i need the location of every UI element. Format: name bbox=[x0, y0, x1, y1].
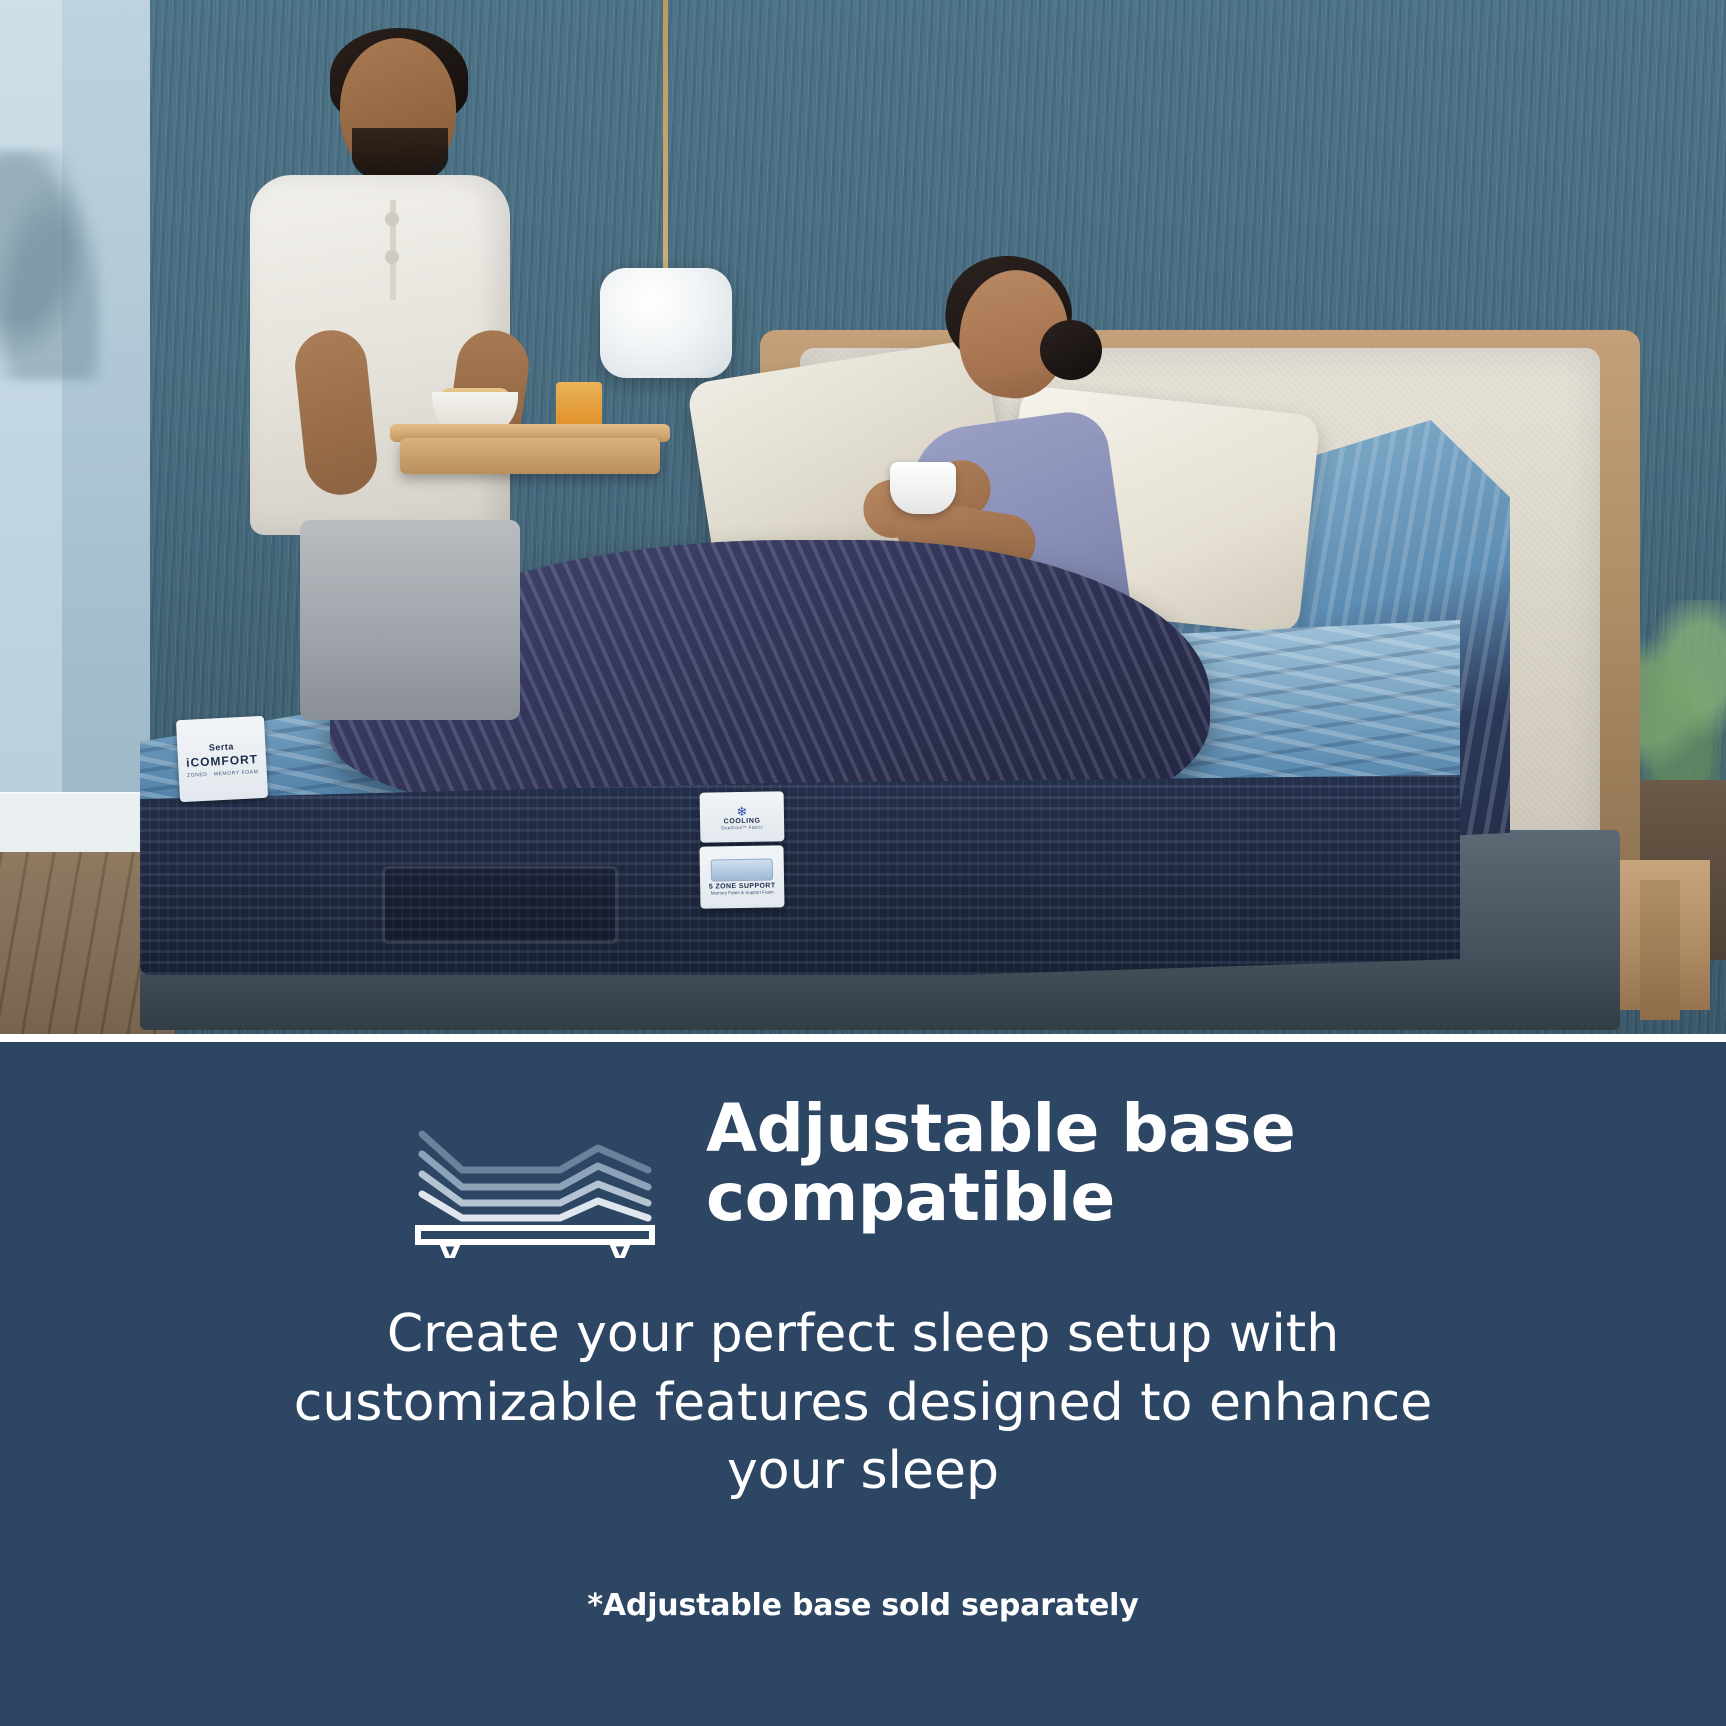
mattress-side-panel bbox=[140, 775, 1460, 975]
man-trousers bbox=[300, 520, 520, 720]
bed-frame-leg-right bbox=[1640, 880, 1680, 1020]
coffee-mug bbox=[890, 462, 956, 514]
promotional-product-card: Serta iCOMFORT ZONED · MEMORY FOAM ❄ COO… bbox=[0, 0, 1726, 1726]
cooling-tag-subtitle: DualCool™ Fabric bbox=[721, 824, 763, 830]
zone-diagram-icon bbox=[711, 858, 773, 881]
serta-brand-tag: Serta iCOMFORT ZONED · MEMORY FOAM bbox=[176, 716, 268, 802]
man-shirt-button-top bbox=[385, 212, 399, 226]
headline-line-1: Adjustable base bbox=[706, 1094, 1295, 1163]
feature-headline: Adjustable base compatible bbox=[706, 1094, 1295, 1233]
photo-panel-divider bbox=[0, 1034, 1726, 1042]
serta-model-name: iCOMFORT bbox=[186, 752, 259, 770]
man-shirt-button-bottom bbox=[385, 250, 399, 264]
serta-brand-name: Serta bbox=[209, 741, 235, 752]
adjustable-base-icon bbox=[410, 1108, 660, 1258]
baseboard bbox=[0, 792, 160, 858]
feature-headline-row: Adjustable base compatible bbox=[410, 1094, 1330, 1258]
snowflake-icon: ❄ bbox=[736, 804, 747, 817]
bedroom-lifestyle-photo: Serta iCOMFORT ZONED · MEMORY FOAM ❄ COO… bbox=[0, 0, 1726, 1042]
serta-tag-subtitle: ZONED · MEMORY FOAM bbox=[187, 769, 259, 779]
zone-support-tag: 5 ZONE SUPPORT Memory Foam & Support Foa… bbox=[699, 845, 784, 908]
feature-description: Create your perfect sleep setup with cus… bbox=[230, 1300, 1496, 1506]
wall-shadow-foliage bbox=[0, 150, 100, 380]
breakfast-tray bbox=[400, 438, 660, 474]
feature-footnote: *Adjustable base sold separately bbox=[230, 1588, 1496, 1623]
zone-tag-subtitle: Memory Foam & Support Foam bbox=[711, 889, 774, 895]
cooling-feature-tag: ❄ COOLING DualCool™ Fabric bbox=[700, 791, 785, 842]
mattress-handle bbox=[382, 866, 618, 944]
headline-line-2: compatible bbox=[706, 1163, 1295, 1232]
pendant-lamp bbox=[600, 268, 732, 378]
pendant-lamp-cord bbox=[663, 0, 668, 268]
woman-hair-bun bbox=[1040, 320, 1102, 380]
